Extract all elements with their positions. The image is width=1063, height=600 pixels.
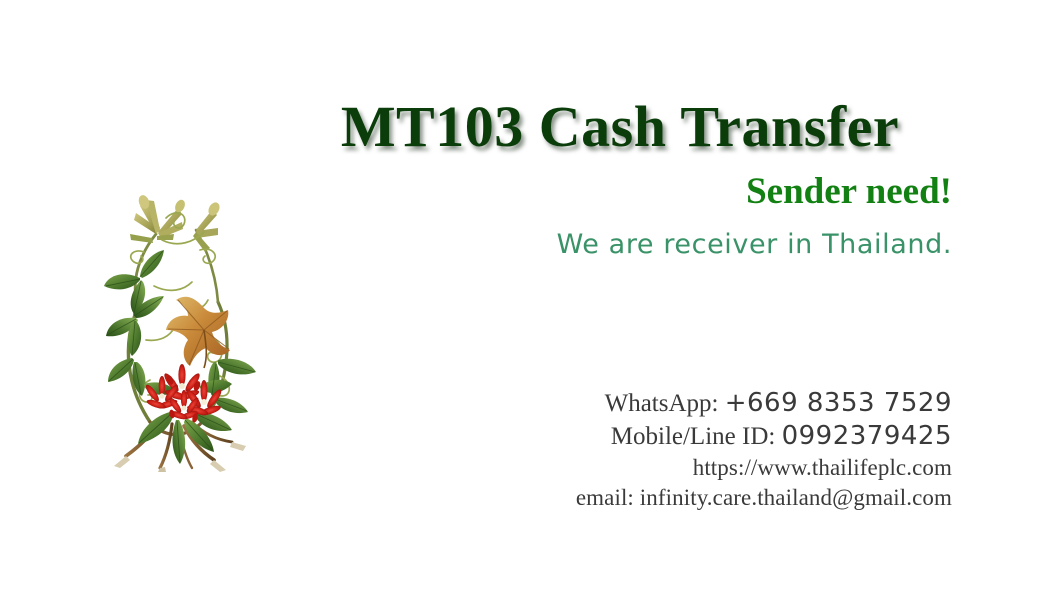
mobile-number[interactable]: 0992379425 xyxy=(782,421,952,451)
subtitle: Sender need! xyxy=(280,170,952,214)
contact-details: WhatsApp: +669 8353 7529 Mobile/Line ID:… xyxy=(280,387,952,513)
whatsapp-label: WhatsApp: xyxy=(605,390,719,417)
contact-mobile: Mobile/Line ID: 0992379425 xyxy=(280,420,952,453)
page-title: MT103 Cash Transfer xyxy=(280,95,960,159)
whatsapp-number[interactable]: +669 8353 7529 xyxy=(725,388,952,418)
contact-website[interactable]: https://www.thailifeplc.com xyxy=(280,453,952,483)
contact-email: email: infinity.care.thailand@gmail.com xyxy=(280,483,952,513)
tagline: We are receiver in Thailand. xyxy=(280,228,952,262)
contact-whatsapp: WhatsApp: +669 8353 7529 xyxy=(280,387,952,420)
website-url[interactable]: https://www.thailifeplc.com xyxy=(693,455,952,480)
email-address[interactable]: infinity.care.thailand@gmail.com xyxy=(640,485,952,510)
top-foliage-left xyxy=(130,194,187,243)
floral-wreath-illustration xyxy=(100,190,260,472)
email-label: email: xyxy=(576,485,634,510)
top-foliage-right xyxy=(193,200,222,252)
business-card-canvas: MT103 Cash Transfer Sender need! We are … xyxy=(0,0,1063,600)
text-block: MT103 Cash Transfer Sender need! We are … xyxy=(280,95,960,513)
mobile-label: Mobile/Line ID: xyxy=(611,423,776,450)
